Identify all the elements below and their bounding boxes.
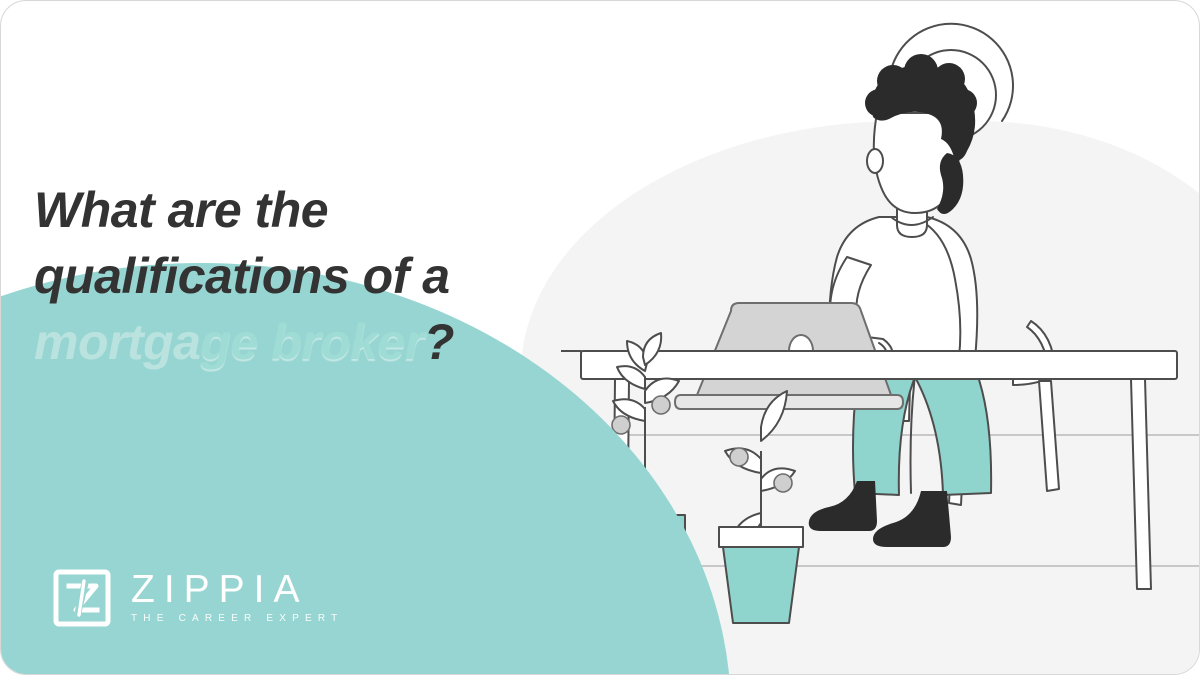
potted-plant-right [719,391,803,623]
headline-line-1: What are the [34,177,454,243]
banner-card: .ol { fill:#ffffff; stroke:#4d4d4d; stro… [0,0,1200,675]
headline-hidden-text: mortga [34,314,200,370]
zippia-name: ZIPPIA [131,570,343,610]
zippia-wordmark: ZIPPIA THE CAREER EXPERT [131,570,343,627]
page-title: What are the qualifications of a mortgag… [34,177,454,375]
headline-highlight-text: ge broker [200,314,423,370]
headline-line-3: mortgage broker? [34,309,454,375]
zippia-tagline: THE CAREER EXPERT [131,611,343,627]
headline-question-mark: ? [424,314,454,370]
zippia-z-mark-icon [53,569,111,627]
person-figure [809,54,991,547]
headline-line-2: qualifications of a [34,243,454,309]
zippia-logo[interactable]: ZIPPIA THE CAREER EXPERT [53,569,343,627]
